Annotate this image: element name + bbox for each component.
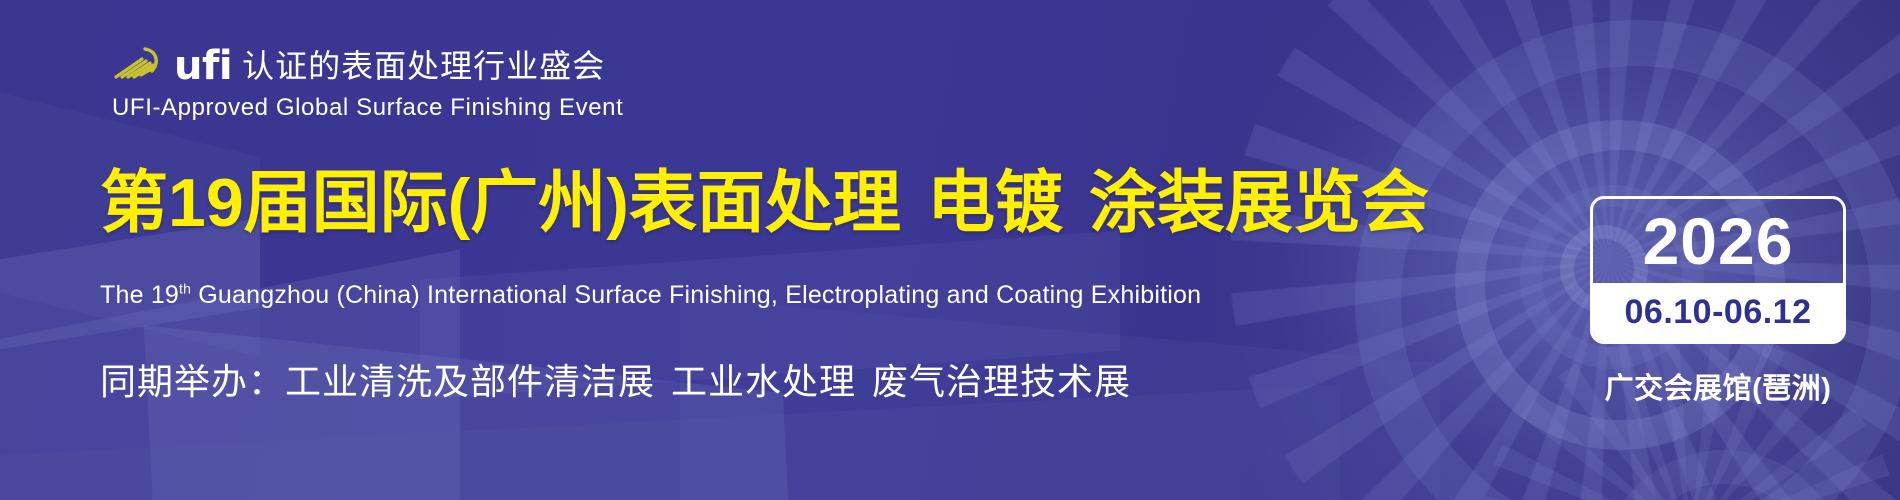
event-date-range: 06.10-06.12 xyxy=(1593,283,1843,341)
concurrent-event-2: 工业水处理 xyxy=(671,361,856,402)
concurrent-event-1: 工业清洗及部件清洁展 xyxy=(285,361,655,402)
ufi-tagline-cn: 认证的表面处理行业盛会 xyxy=(242,47,605,86)
event-year: 2026 xyxy=(1593,199,1843,283)
event-date-card: 2026 06.10-06.12 xyxy=(1590,196,1846,344)
page-title: 第19届国际(广州)表面处理电镀涂装展览会 xyxy=(100,164,1429,242)
ufi-tagline-en: UFI-Approved Global Surface Finishing Ev… xyxy=(112,94,623,122)
concurrent-events-line: 同期举办：工业清洗及部件清洁展工业水处理废气治理技术展 xyxy=(100,353,1131,405)
ufi-swoosh-icon xyxy=(112,41,168,86)
headline-segment-3: 涂装展览会 xyxy=(1089,165,1429,241)
headline-segment-2: 电镀 xyxy=(927,165,1063,241)
ufi-logo-lockup: ufi 认证的表面处理行业盛会 UFI-Approved Global Surf… xyxy=(112,38,623,122)
concurrent-event-3: 废气治理技术展 xyxy=(872,361,1131,402)
event-banner: ufi 认证的表面处理行业盛会 UFI-Approved Global Surf… xyxy=(0,0,1900,500)
headline-en-ordinal: th xyxy=(179,281,191,297)
ufi-wordmark: ufi xyxy=(174,46,232,86)
headline-segment-1: 第19届国际(广州)表面处理 xyxy=(100,165,901,241)
ufi-logo-row: ufi 认证的表面处理行业盛会 xyxy=(112,38,623,86)
page-subtitle-en: The 19th Guangzhou (China) International… xyxy=(100,281,1201,310)
headline-en-prefix: The 19 xyxy=(100,281,179,309)
banner-content: ufi 认证的表面处理行业盛会 UFI-Approved Global Surf… xyxy=(0,0,1900,500)
event-venue: 广交会展馆(琶洲) xyxy=(1590,365,1846,407)
headline-en-rest: Guangzhou (China) International Surface … xyxy=(191,281,1201,309)
concurrent-label: 同期举办： xyxy=(100,361,285,402)
